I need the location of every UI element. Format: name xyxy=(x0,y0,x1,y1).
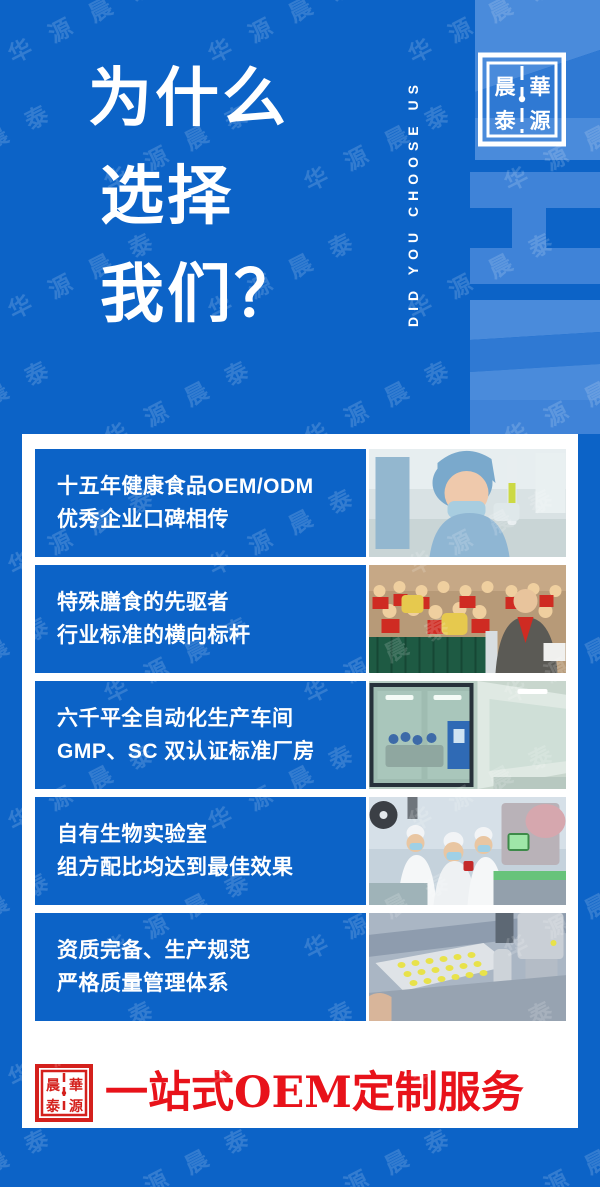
svg-text:華: 華 xyxy=(69,1077,83,1094)
feature-photo-conference-audience xyxy=(369,565,566,673)
footer-seal-logo: 晨 華 泰 源 xyxy=(35,1064,93,1122)
poster-root: DID YOU CHOOSE US 晨 華 泰 源 为什么 选择 我们？ xyxy=(0,0,600,1187)
feature-text-block: 六千平全自动化生产车间 GMP、SC 双认证标准厂房 xyxy=(35,681,366,789)
headline-line-2: 选择 xyxy=(88,148,388,246)
list-item[interactable]: 资质完备、生产规范 严格质量管理体系 xyxy=(35,913,566,1021)
footer-slogan-bar: 晨 華 泰 源 一站式OEM定制服务 xyxy=(35,1062,565,1124)
svg-text:晨: 晨 xyxy=(495,74,517,99)
svg-text:華: 華 xyxy=(530,74,551,99)
feature-line-1: 十五年健康食品OEM/ODM xyxy=(57,470,366,503)
feature-line-1: 六千平全自动化生产车间 xyxy=(57,702,366,735)
headline-line-3: 我们？ xyxy=(88,246,388,344)
feature-line-2: GMP、SC 双认证标准厂房 xyxy=(57,735,366,768)
vertical-caption: DID YOU CHOOSE US xyxy=(398,10,428,405)
hero-seal-logo: 晨 華 泰 源 xyxy=(478,52,566,147)
feature-line-2: 组方配比均达到最佳效果 xyxy=(57,851,366,884)
feature-photo-lab-technician xyxy=(369,449,566,557)
feature-text-block: 特殊膳食的先驱者 行业标准的横向标杆 xyxy=(35,565,366,673)
feature-text-block: 自有生物实验室 组方配比均达到最佳效果 xyxy=(35,797,366,905)
list-item[interactable]: 六千平全自动化生产车间 GMP、SC 双认证标准厂房 xyxy=(35,681,566,789)
feature-line-1: 自有生物实验室 xyxy=(57,818,366,851)
feature-photo-production-line-staff xyxy=(369,797,566,905)
feature-photo-cleanroom-corridor xyxy=(369,681,566,789)
page-title: 为什么 选择 我们？ xyxy=(88,50,388,344)
list-item[interactable]: 自有生物实验室 组方配比均达到最佳效果 xyxy=(35,797,566,905)
svg-text:泰: 泰 xyxy=(45,1098,61,1115)
svg-text:晨: 晨 xyxy=(46,1078,61,1094)
list-item[interactable]: 十五年健康食品OEM/ODM 优秀企业口碑相传 xyxy=(35,449,566,557)
footer-slogan-text: 一站式OEM定制服务 xyxy=(105,1070,524,1116)
feature-text-block: 资质完备、生产规范 严格质量管理体系 xyxy=(35,913,366,1021)
feature-photo-blister-packing-machine xyxy=(369,913,566,1021)
features-card: 十五年健康食品OEM/ODM 优秀企业口碑相传 xyxy=(22,434,578,1128)
svg-text:源: 源 xyxy=(530,108,551,133)
svg-text:泰: 泰 xyxy=(494,108,517,133)
hero-section: DID YOU CHOOSE US 晨 華 泰 源 为什么 选择 我们？ xyxy=(0,0,600,434)
headline-line-1: 为什么 xyxy=(88,50,388,148)
feature-line-1: 资质完备、生产规范 xyxy=(57,934,366,967)
feature-line-2: 行业标准的横向标杆 xyxy=(57,619,366,652)
feature-list: 十五年健康食品OEM/ODM 优秀企业口碑相传 xyxy=(35,449,566,1021)
feature-line-1: 特殊膳食的先驱者 xyxy=(57,586,366,619)
feature-line-2: 严格质量管理体系 xyxy=(57,967,366,1000)
vertical-caption-text: DID YOU CHOOSE US xyxy=(405,38,421,368)
feature-line-2: 优秀企业口碑相传 xyxy=(57,503,366,536)
feature-text-block: 十五年健康食品OEM/ODM 优秀企业口碑相传 xyxy=(35,449,366,557)
svg-text:源: 源 xyxy=(69,1098,83,1115)
list-item[interactable]: 特殊膳食的先驱者 行业标准的横向标杆 xyxy=(35,565,566,673)
